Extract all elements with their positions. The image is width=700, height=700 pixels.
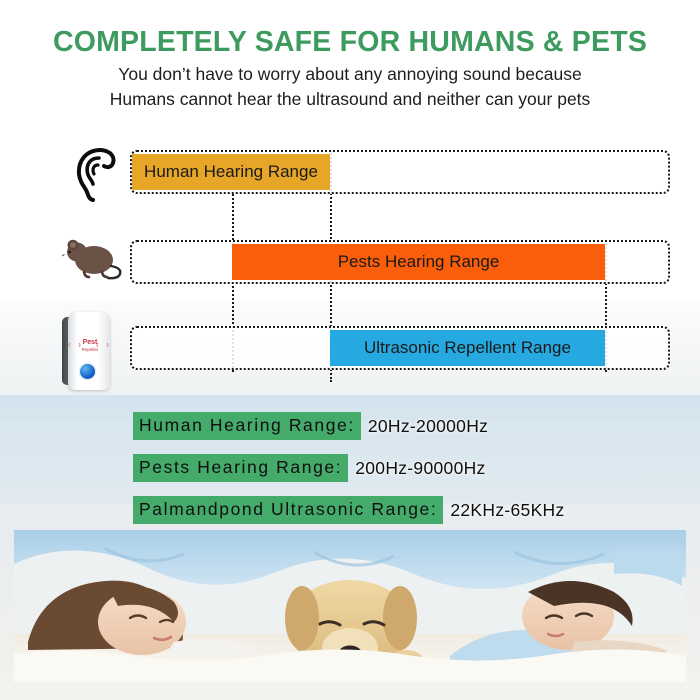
mouse-icon	[60, 236, 126, 287]
pests-range-track: Pests Hearing Range	[130, 240, 670, 284]
page-subtitle: You don’t have to worry about any annoyi…	[0, 62, 700, 112]
kids-and-dog-sleeping-photo	[14, 530, 686, 682]
legend-row-pests: Pests Hearing Range: 200Hz-90000Hz	[133, 454, 693, 482]
legend-label-ultrasonic: Palmandpond Ultrasonic Range:	[133, 496, 443, 524]
human-range-bar-label: Human Hearing Range	[138, 162, 324, 182]
ultrasonic-range-track: Ultrasonic Repellent Range	[130, 326, 670, 370]
legend-row-human: Human Hearing Range: 20Hz-20000Hz	[133, 412, 693, 440]
pests-range-bar-label: Pests Hearing Range	[332, 252, 506, 272]
subtitle-line-1: You don’t have to worry about any annoyi…	[0, 62, 700, 87]
hearing-range-chart: Human Hearing Range Pests Hearing Range	[0, 140, 700, 395]
ear-icon	[62, 146, 128, 207]
human-range-bar: Human Hearing Range	[132, 154, 330, 190]
page-title: COMPLETELY SAFE FOR HUMANS & PETS	[0, 26, 700, 59]
ultrasonic-range-bar-label: Ultrasonic Repellent Range	[358, 338, 577, 358]
device-brand-name: Pest	[83, 339, 98, 346]
legend-label-pests: Pests Hearing Range:	[133, 454, 348, 482]
pests-range-bar: Pests Hearing Range	[232, 244, 605, 280]
device-brand-logo: Pest Repeller	[75, 339, 105, 353]
legend: Human Hearing Range: 20Hz-20000Hz Pests …	[133, 412, 693, 538]
infographic-page: COMPLETELY SAFE FOR HUMANS & PETS You do…	[0, 0, 700, 700]
subtitle-line-2: Humans cannot hear the ultrasound and ne…	[0, 87, 700, 112]
device-brand-sub: Repeller	[75, 346, 105, 353]
legend-value-human: 20Hz-20000Hz	[361, 416, 488, 437]
device-power-button[interactable]	[80, 364, 95, 379]
legend-value-ultrasonic: 22KHz-65KHz	[443, 500, 564, 521]
legend-value-pests: 200Hz-90000Hz	[348, 458, 485, 479]
human-range-track: Human Hearing Range	[130, 150, 670, 194]
ultrasonic-range-bar: Ultrasonic Repellent Range	[330, 330, 605, 366]
legend-row-ultrasonic: Palmandpond Ultrasonic Range: 22KHz-65KH…	[133, 496, 693, 524]
legend-label-human: Human Hearing Range:	[133, 412, 361, 440]
pest-repeller-device-icon: Pest Repeller	[62, 312, 128, 390]
